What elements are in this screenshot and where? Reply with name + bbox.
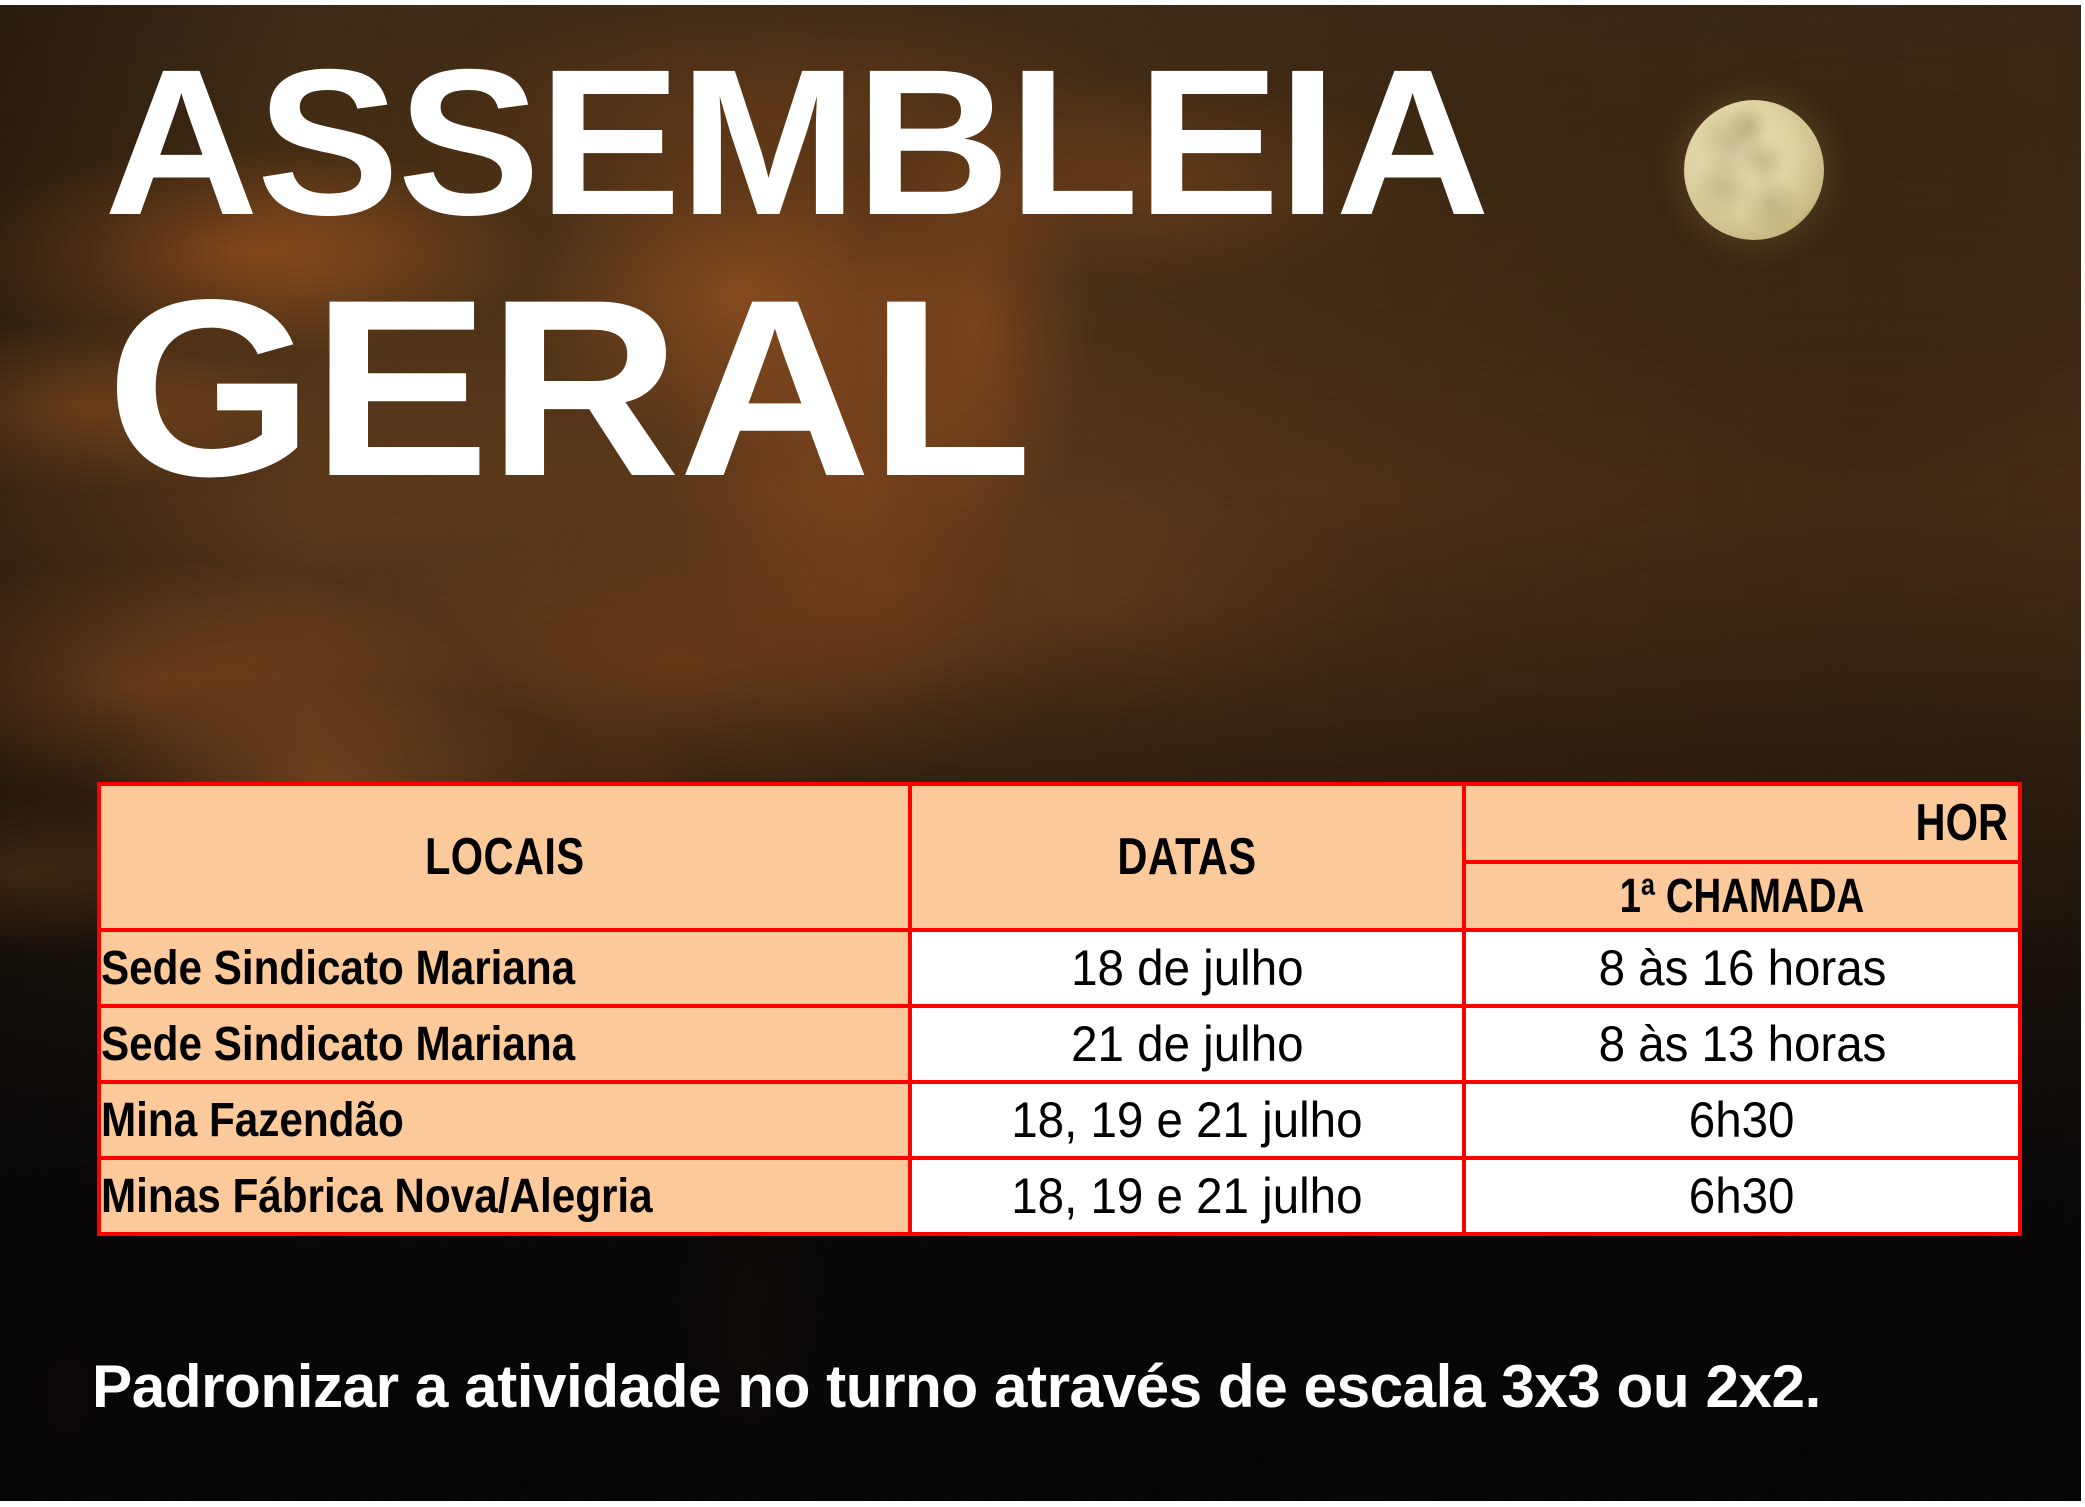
column-header-locais: LOCAIS [99, 784, 910, 930]
cell-data: 21 de julho [910, 1006, 1464, 1082]
table-row: Minas Fábrica Nova/Alegria 18, 19 e 21 j… [99, 1158, 2020, 1234]
column-header-locais-label: LOCAIS [425, 827, 585, 887]
cell-data: 18, 19 e 21 julho [910, 1158, 1464, 1234]
page-title-line-2: GERAL [106, 283, 1030, 495]
table-row: Sede Sindicato Mariana 18 de julho 8 às … [99, 930, 2020, 1006]
assembly-poster: ASSEMBLEIA GERAL LOCAIS DATAS HOR [0, 0, 2085, 1507]
cell-horario-text: 6h30 [1689, 1167, 1795, 1225]
cell-horario: 6h30 [1464, 1158, 2020, 1234]
page-title-line-1: ASSEMBLEIA [104, 56, 1488, 231]
table-header-row: LOCAIS DATAS HOR [99, 784, 2020, 862]
cell-data: 18, 19 e 21 julho [910, 1082, 1464, 1158]
column-header-primeira-chamada: 1ª CHAMADA [1464, 862, 2020, 930]
cell-local: Mina Fazendão [99, 1082, 910, 1158]
cell-data-text: 18 de julho [1071, 939, 1303, 997]
cell-horario-text: 8 às 16 horas [1598, 939, 1886, 997]
column-header-datas: DATAS [910, 784, 1464, 930]
cell-local: Sede Sindicato Mariana [99, 1006, 910, 1082]
cell-data-text: 18, 19 e 21 julho [1011, 1091, 1362, 1149]
scan-edge-top [0, 0, 2085, 5]
scan-edge-bottom [0, 1501, 2085, 1507]
cell-data: 18 de julho [910, 930, 1464, 1006]
table-row: Mina Fazendão 18, 19 e 21 julho 6h30 [99, 1082, 2020, 1158]
column-header-datas-label: DATAS [1117, 827, 1256, 887]
cell-horario-text: 6h30 [1689, 1091, 1795, 1149]
cell-local-text: Sede Sindicato Mariana [101, 941, 575, 996]
full-moon-icon [1684, 100, 1824, 240]
cell-local-text: Sede Sindicato Mariana [101, 1017, 575, 1072]
column-header-horario-label: HOR [1916, 793, 2008, 853]
cell-data-text: 18, 19 e 21 julho [1011, 1167, 1362, 1225]
cell-data-text: 21 de julho [1071, 1015, 1303, 1073]
footer-caption: Padronizar a atividade no turno através … [92, 1352, 2042, 1421]
scan-edge-right [2081, 0, 2085, 1507]
cell-horario: 6h30 [1464, 1082, 2020, 1158]
cell-horario: 8 às 16 horas [1464, 930, 2020, 1006]
cell-horario: 8 às 13 horas [1464, 1006, 2020, 1082]
column-header-primeira-chamada-label: 1ª CHAMADA [1620, 869, 1865, 924]
cell-local-text: Mina Fazendão [101, 1093, 404, 1148]
cell-horario-text: 8 às 13 horas [1598, 1015, 1886, 1073]
assembly-schedule-table: LOCAIS DATAS HOR 1ª CHAMADA Sede Sindica… [97, 782, 2022, 1236]
table-row: Sede Sindicato Mariana 21 de julho 8 às … [99, 1006, 2020, 1082]
cell-local-text: Minas Fábrica Nova/Alegria [101, 1169, 653, 1224]
cell-local: Sede Sindicato Mariana [99, 930, 910, 1006]
cell-local: Minas Fábrica Nova/Alegria [99, 1158, 910, 1234]
column-header-horario: HOR [1464, 784, 2020, 862]
